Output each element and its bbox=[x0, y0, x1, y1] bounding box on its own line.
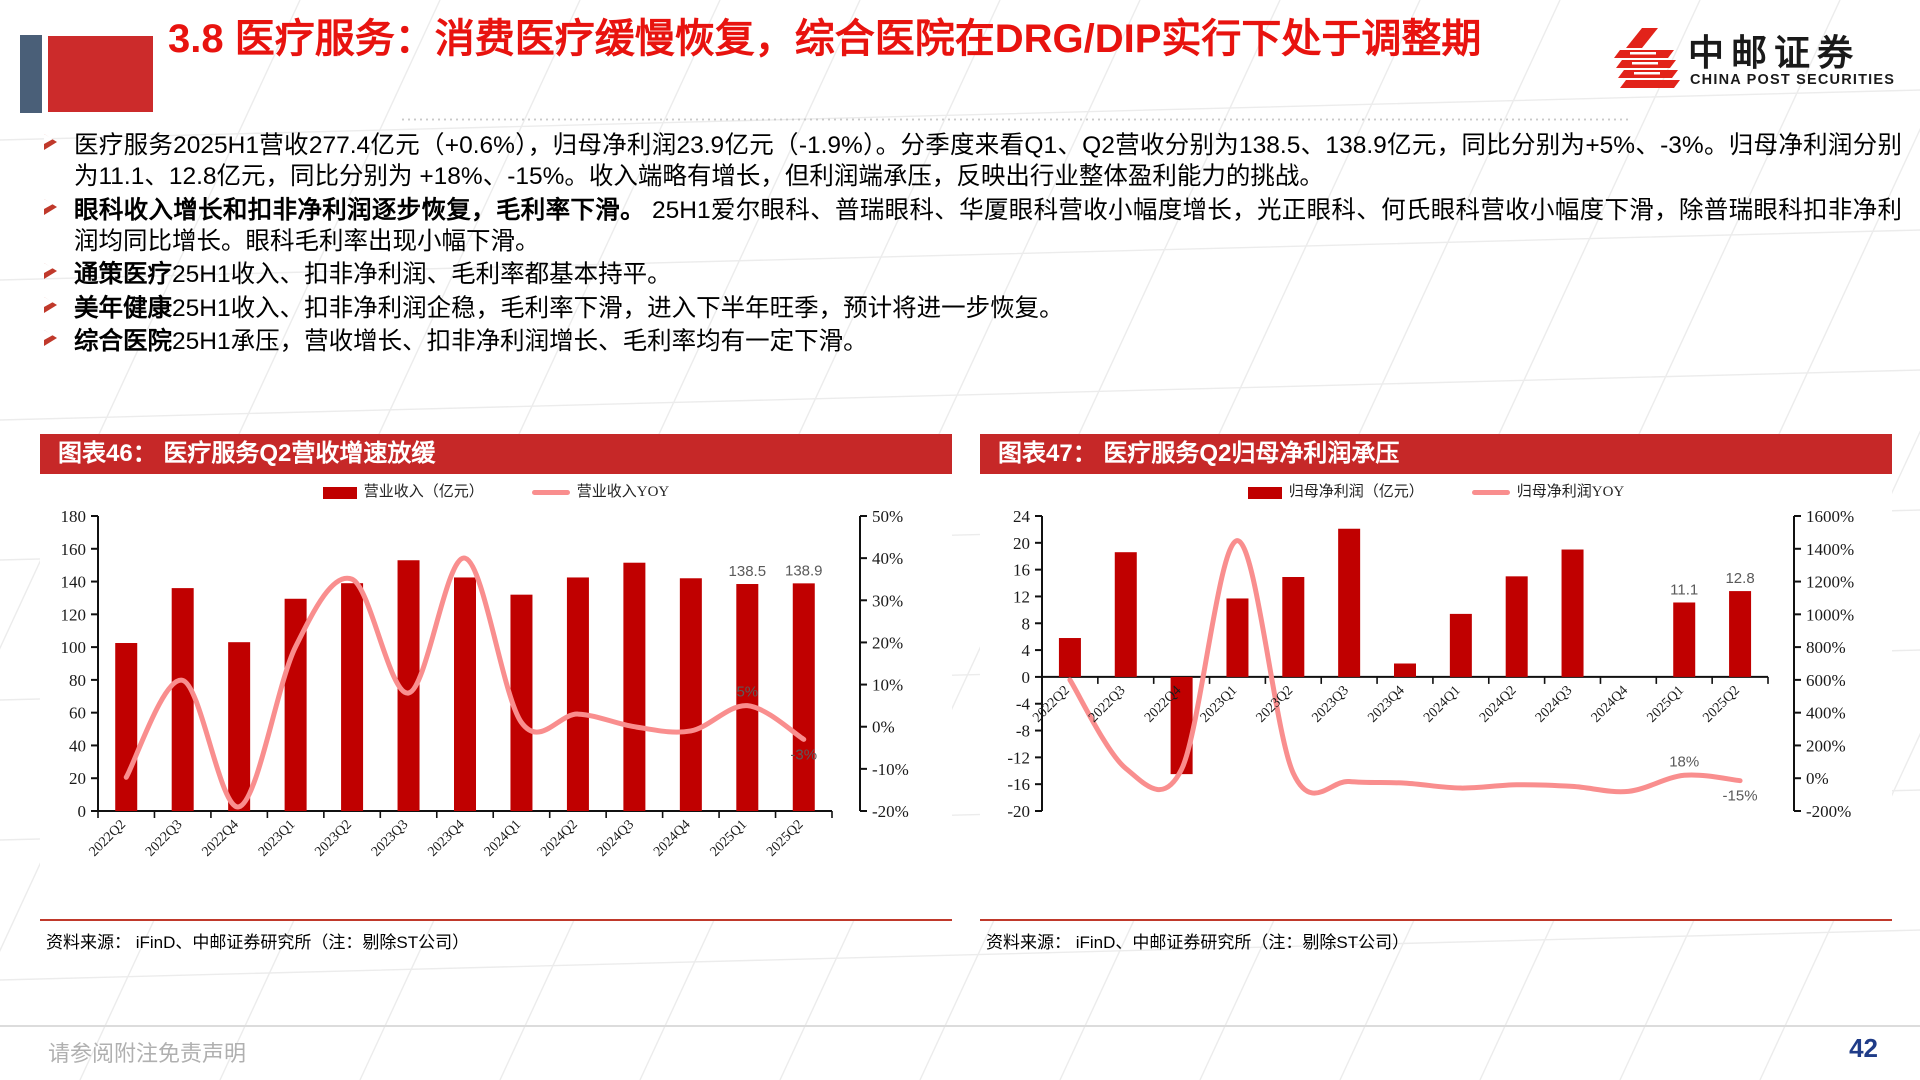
svg-text:2023Q4: 2023Q4 bbox=[425, 817, 468, 860]
svg-text:140: 140 bbox=[61, 573, 87, 592]
svg-text:5%: 5% bbox=[736, 684, 758, 701]
svg-text:2024Q2: 2024Q2 bbox=[1477, 683, 1520, 726]
svg-text:-200%: -200% bbox=[1806, 802, 1851, 821]
svg-text:2024Q3: 2024Q3 bbox=[595, 817, 638, 860]
legend-line-swatch-icon bbox=[532, 490, 570, 495]
svg-text:20: 20 bbox=[69, 769, 86, 788]
chart-title-46: 图表46： 医疗服务Q2营收增速放缓 bbox=[40, 434, 952, 474]
svg-text:2024Q4: 2024Q4 bbox=[1589, 683, 1632, 726]
svg-text:-10%: -10% bbox=[872, 760, 909, 779]
svg-text:120: 120 bbox=[61, 605, 87, 624]
svg-text:18%: 18% bbox=[1669, 753, 1699, 770]
svg-text:8: 8 bbox=[1022, 614, 1031, 633]
chart-source-46: 资料来源： iFinD、中邮证券研究所（注：剔除ST公司） bbox=[40, 921, 952, 953]
legend-line-label: 归母净利润YOY bbox=[1517, 484, 1625, 500]
svg-text:-15%: -15% bbox=[1723, 788, 1758, 805]
bullet-arrow-icon bbox=[44, 134, 57, 150]
svg-text:800%: 800% bbox=[1806, 638, 1846, 657]
page-number: 42 bbox=[1849, 1033, 1878, 1064]
chart-title-47: 图表47： 医疗服务Q2归母净利润承压 bbox=[980, 434, 1892, 474]
svg-text:2023Q4: 2023Q4 bbox=[1365, 683, 1408, 726]
svg-text:0: 0 bbox=[1022, 668, 1031, 687]
chart-body-netprofit: 归母净利润（亿元） 归母净利润YOY -20-16-12-8-404812162… bbox=[980, 474, 1892, 919]
svg-text:2024Q2: 2024Q2 bbox=[538, 817, 581, 860]
svg-text:2025Q2: 2025Q2 bbox=[1700, 683, 1743, 726]
company-logo: 中邮证券 CHINA POST SECURITIES bbox=[1612, 24, 1902, 96]
svg-text:2022Q2: 2022Q2 bbox=[87, 817, 130, 860]
svg-text:20%: 20% bbox=[872, 633, 903, 652]
svg-text:30%: 30% bbox=[872, 591, 903, 610]
svg-text:2023Q3: 2023Q3 bbox=[369, 817, 412, 860]
svg-text:600%: 600% bbox=[1806, 671, 1846, 690]
svg-text:-3%: -3% bbox=[790, 746, 817, 763]
legend-bar-label: 归母净利润（亿元） bbox=[1289, 484, 1424, 500]
svg-text:1000%: 1000% bbox=[1806, 605, 1854, 624]
legend-bar-swatch-icon bbox=[323, 487, 357, 499]
logo-english-name: CHINA POST SECURITIES bbox=[1690, 72, 1895, 88]
legend-bar-label: 营业收入（亿元） bbox=[364, 484, 484, 500]
bullet-text: 25H1收入、扣非净利润企稳，毛利率下滑，进入下半年旺季，预计将进一步恢复。 bbox=[172, 295, 1064, 322]
svg-text:4: 4 bbox=[1022, 641, 1031, 660]
svg-text:2024Q1: 2024Q1 bbox=[1421, 683, 1464, 726]
svg-text:-12: -12 bbox=[1007, 748, 1030, 767]
logo-chinese-name: 中邮证券 bbox=[1688, 24, 1860, 76]
svg-text:1600%: 1600% bbox=[1806, 507, 1854, 526]
svg-text:2024Q4: 2024Q4 bbox=[651, 817, 694, 860]
svg-text:-4: -4 bbox=[1016, 695, 1031, 714]
svg-text:2022Q3: 2022Q3 bbox=[1086, 683, 1129, 726]
svg-text:-20: -20 bbox=[1007, 802, 1030, 821]
chart-panel-revenue: 图表46： 医疗服务Q2营收增速放缓 营业收入（亿元） 营业收入YOY 0204… bbox=[40, 434, 952, 954]
legend-line-label: 营业收入YOY bbox=[577, 484, 670, 500]
svg-text:2025Q2: 2025Q2 bbox=[764, 817, 807, 860]
chart-legend-revenue: 营业收入（亿元） 营业收入YOY bbox=[40, 480, 952, 501]
legend-item-line: 营业收入YOY bbox=[532, 480, 670, 501]
list-item: 综合医院25H1承压，营收增长、扣非净利润增长、毛利率均有一定下滑。 bbox=[22, 326, 1902, 357]
svg-text:100: 100 bbox=[61, 638, 87, 657]
svg-text:0%: 0% bbox=[872, 718, 895, 737]
svg-text:12: 12 bbox=[1013, 587, 1030, 606]
chart-svg-netprofit: -20-16-12-8-404812162024-200%0%200%400%6… bbox=[980, 474, 1892, 919]
svg-text:10%: 10% bbox=[872, 676, 903, 695]
svg-text:80: 80 bbox=[69, 671, 86, 690]
svg-text:400%: 400% bbox=[1806, 704, 1846, 723]
page-title: 3.8 医疗服务：消费医疗缓慢恢复，综合医院在DRG/DIP实行下处于调整期 bbox=[168, 16, 1568, 63]
chart-legend-netprofit: 归母净利润（亿元） 归母净利润YOY bbox=[980, 480, 1892, 501]
chart-body-revenue: 营业收入（亿元） 营业收入YOY 02040608010012014016018… bbox=[40, 474, 952, 919]
svg-text:2023Q1: 2023Q1 bbox=[1198, 683, 1241, 726]
svg-text:2024Q3: 2024Q3 bbox=[1533, 683, 1576, 726]
svg-text:24: 24 bbox=[1013, 507, 1031, 526]
svg-text:40%: 40% bbox=[872, 549, 903, 568]
bullet-arrow-icon bbox=[44, 263, 57, 279]
svg-text:16: 16 bbox=[1013, 561, 1030, 580]
body-bullet-list: 医疗服务2025H1营收277.4亿元（+0.6%），归母净利润23.9亿元（-… bbox=[22, 130, 1902, 360]
footer-disclaimer: 请参阅附注免责声明 bbox=[48, 1036, 246, 1068]
bullet-arrow-icon bbox=[44, 199, 57, 215]
legend-item-bar: 归母净利润（亿元） bbox=[1248, 480, 1424, 501]
svg-text:2024Q1: 2024Q1 bbox=[482, 817, 525, 860]
svg-text:20: 20 bbox=[1013, 534, 1030, 553]
chart-svg-revenue: 020406080100120140160180-20%-10%0%10%20%… bbox=[40, 474, 952, 919]
bullet-text: 医疗服务2025H1营收277.4亿元（+0.6%），归母净利润23.9亿元（-… bbox=[74, 132, 1902, 190]
header-decoration-red bbox=[48, 36, 153, 112]
legend-item-bar: 营业收入（亿元） bbox=[323, 480, 484, 501]
svg-text:200%: 200% bbox=[1806, 736, 1846, 755]
list-item: 美年健康25H1收入、扣非净利润企稳，毛利率下滑，进入下半年旺季，预计将进一步恢… bbox=[22, 293, 1902, 324]
svg-text:160: 160 bbox=[61, 540, 87, 559]
svg-text:40: 40 bbox=[69, 736, 86, 755]
svg-text:-16: -16 bbox=[1007, 775, 1030, 794]
bullet-text: 25H1承压，营收增长、扣非净利润增长、毛利率均有一定下滑。 bbox=[172, 328, 868, 355]
svg-text:60: 60 bbox=[69, 704, 86, 723]
logo-mark-icon bbox=[1612, 28, 1682, 90]
page-header: 3.8 医疗服务：消费医疗缓慢恢复，综合医院在DRG/DIP实行下处于调整期 中… bbox=[0, 0, 1920, 118]
list-item: 医疗服务2025H1营收277.4亿元（+0.6%），归母净利润23.9亿元（-… bbox=[22, 130, 1902, 193]
svg-text:2023Q2: 2023Q2 bbox=[312, 817, 355, 860]
svg-text:2023Q1: 2023Q1 bbox=[256, 817, 299, 860]
svg-text:2022Q3: 2022Q3 bbox=[143, 817, 186, 860]
svg-text:138.5: 138.5 bbox=[729, 563, 767, 580]
legend-bar-swatch-icon bbox=[1248, 487, 1282, 499]
footer-divider bbox=[0, 1025, 1920, 1027]
svg-text:2023Q3: 2023Q3 bbox=[1309, 683, 1352, 726]
bullet-lead: 综合医院 bbox=[74, 328, 172, 355]
chart-panel-netprofit: 图表47： 医疗服务Q2归母净利润承压 归母净利润（亿元） 归母净利润YOY -… bbox=[980, 434, 1892, 954]
svg-text:0: 0 bbox=[78, 802, 87, 821]
svg-text:1400%: 1400% bbox=[1806, 540, 1854, 559]
bullet-lead: 通策医疗 bbox=[74, 261, 172, 288]
bullet-arrow-icon bbox=[44, 330, 57, 346]
svg-text:180: 180 bbox=[61, 507, 87, 526]
header-decoration-blue bbox=[20, 35, 42, 113]
bullet-text: 25H1收入、扣非净利润、毛利率都基本持平。 bbox=[172, 261, 672, 288]
header-dotted-rule bbox=[400, 118, 1630, 121]
list-item: 通策医疗25H1收入、扣非净利润、毛利率都基本持平。 bbox=[22, 259, 1902, 290]
svg-text:1200%: 1200% bbox=[1806, 573, 1854, 592]
svg-text:12.8: 12.8 bbox=[1725, 570, 1754, 587]
svg-text:0%: 0% bbox=[1806, 769, 1829, 788]
svg-text:-20%: -20% bbox=[872, 802, 909, 821]
svg-text:-8: -8 bbox=[1016, 722, 1030, 741]
legend-line-swatch-icon bbox=[1472, 490, 1510, 495]
svg-text:50%: 50% bbox=[872, 507, 903, 526]
bullet-lead: 眼科收入增长和扣非净利润逐步恢复，毛利率下滑。 bbox=[74, 197, 645, 224]
svg-text:2022Q4: 2022Q4 bbox=[199, 817, 242, 860]
svg-text:138.9: 138.9 bbox=[785, 562, 823, 579]
legend-item-line: 归母净利润YOY bbox=[1472, 480, 1625, 501]
list-item: 眼科收入增长和扣非净利润逐步恢复，毛利率下滑。 25H1爱尔眼科、普瑞眼科、华厦… bbox=[22, 195, 1902, 258]
svg-text:11.1: 11.1 bbox=[1670, 581, 1698, 598]
svg-text:2025Q1: 2025Q1 bbox=[708, 817, 751, 860]
bullet-arrow-icon bbox=[44, 297, 57, 313]
svg-text:2025Q1: 2025Q1 bbox=[1645, 683, 1688, 726]
chart-source-47: 资料来源： iFinD、中邮证券研究所（注：剔除ST公司） bbox=[980, 921, 1892, 953]
bullet-lead: 美年健康 bbox=[74, 295, 172, 322]
